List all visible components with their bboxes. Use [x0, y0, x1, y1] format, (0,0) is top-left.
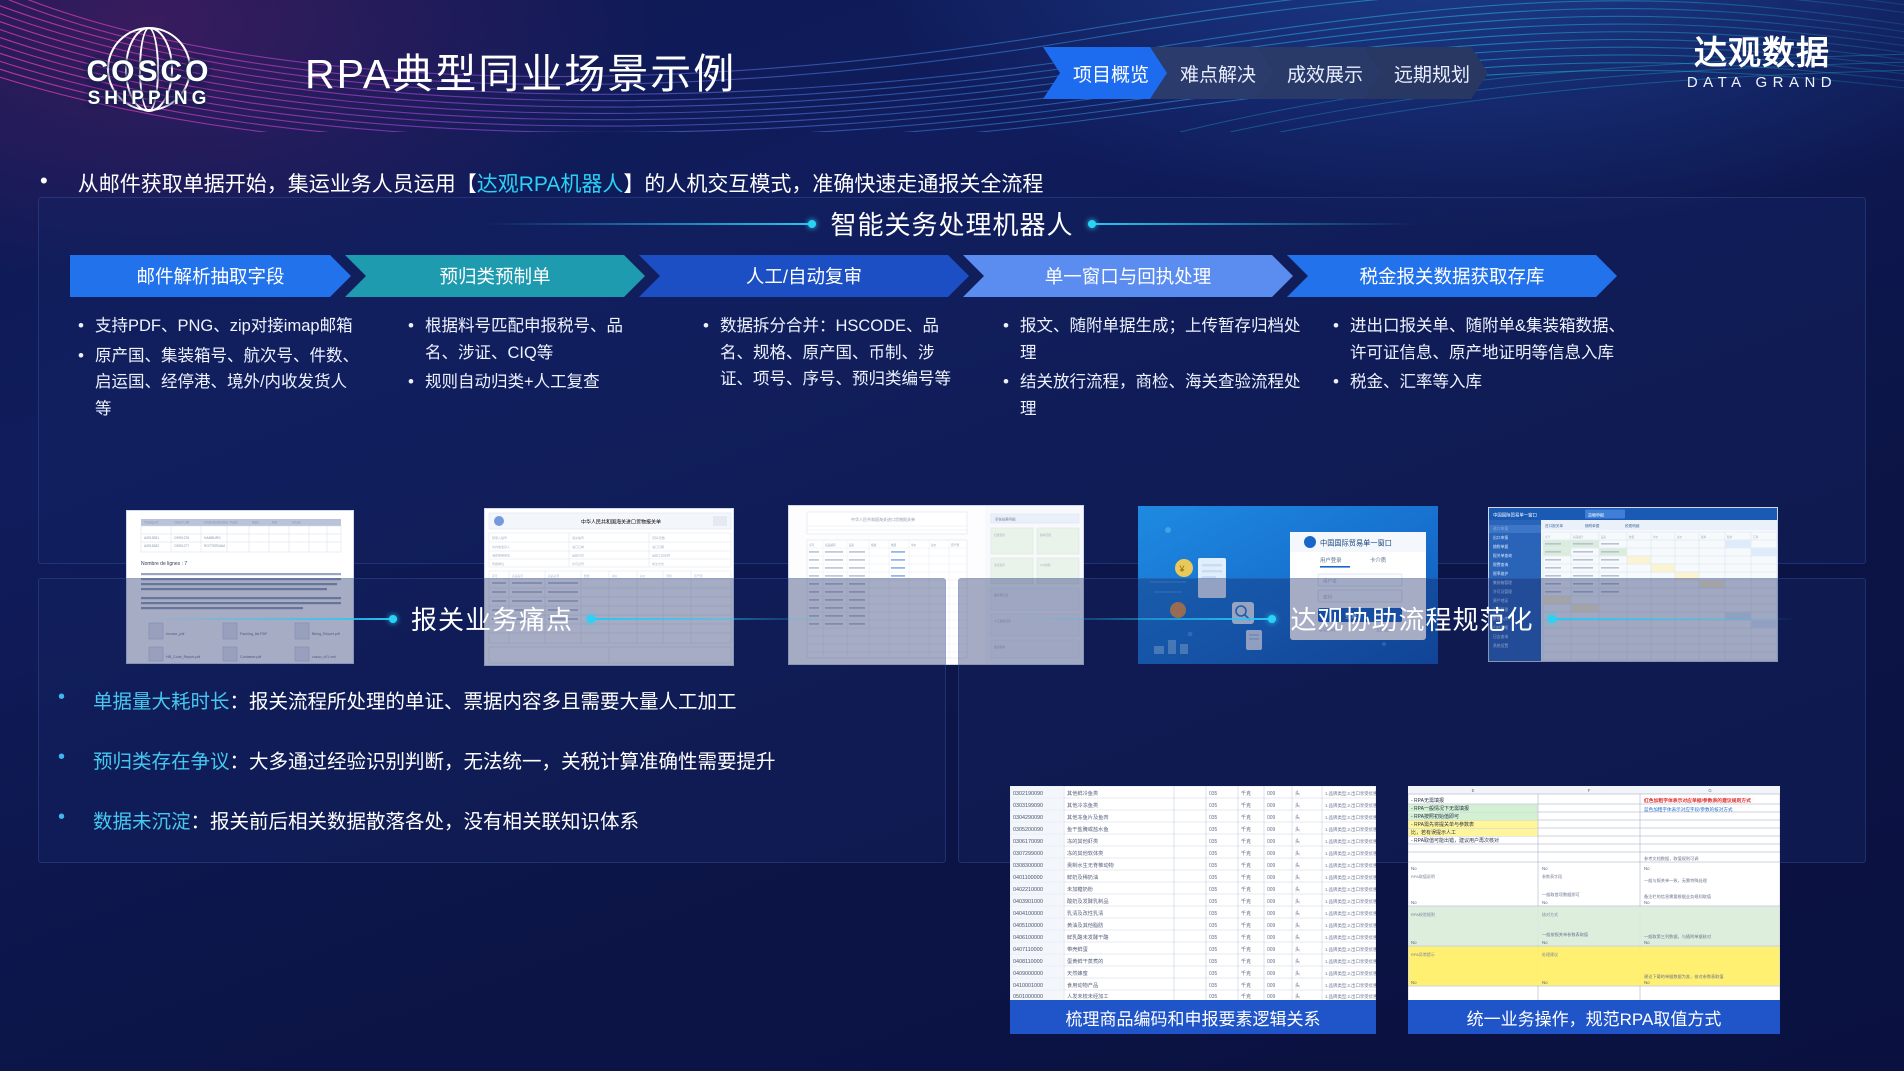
svg-text:天然蜂蜜: 天然蜂蜜: [1067, 969, 1088, 977]
intro-text-highlight: 达观RPA机器人: [477, 173, 624, 196]
svg-text:0402210000: 0402210000: [1013, 887, 1043, 893]
svg-text:HAMBURG: HAMBURG: [204, 536, 221, 540]
svg-text:税金: 税金: [1727, 535, 1733, 539]
svg-text:- RPA需先将提关单与参数表: - RPA需先将提关单与参数表: [1411, 821, 1474, 828]
svg-text:009: 009: [1267, 947, 1276, 953]
svg-text:消费使用单位: 消费使用单位: [492, 553, 510, 558]
svg-text:千克: 千克: [1241, 850, 1251, 857]
svg-text:头: 头: [1295, 970, 1300, 977]
svg-text:商品编号: 商品编号: [1573, 535, 1584, 539]
bullet-marker: •: [703, 313, 709, 339]
svg-text:No: No: [1542, 940, 1548, 945]
svg-text:1.品牌类型;2.出口享受优惠政策: 1.品牌类型;2.出口享受优惠政策: [1325, 946, 1376, 953]
svg-text:税率维护: 税率维护: [1493, 571, 1508, 576]
svg-text:中华人民共和国海关进口货物报关单: 中华人民共和国海关进口货物报关单: [851, 516, 915, 522]
svg-text:1.品牌类型;2.出口享受优惠政策: 1.品牌类型;2.出口享受优惠政策: [1325, 993, 1376, 1000]
step-chevron-2[interactable]: 预归类预制单: [345, 255, 645, 297]
step-4-bullet-1: 报文、随附单据生成；上传暂存归档处理: [1020, 313, 1308, 366]
svg-text:头: 头: [1295, 790, 1300, 797]
svg-text:比，若有误提示人工: 比，若有误提示人工: [1411, 829, 1456, 836]
step-chevron-1[interactable]: 邮件解析抽取字段: [70, 255, 351, 297]
svg-text:1.品牌类型;2.出口享受优惠政策: 1.品牌类型;2.出口享受优惠政策: [1325, 826, 1376, 833]
svg-text:0408110000: 0408110000: [1013, 959, 1043, 965]
svg-text:009: 009: [1267, 983, 1276, 989]
svg-text:随附单据: 随附单据: [1493, 544, 1508, 549]
intro-text: 从邮件获取单据开始，集运业务人员运用【达观RPA机器人】的人机交互模式，准确快速…: [78, 168, 1044, 198]
svg-text:A0915281: A0915281: [144, 536, 159, 540]
svg-text:熏制水生无脊椎动物: 熏制水生无脊椎动物: [1067, 861, 1114, 869]
cosco-logo-line1: COSCO: [56, 57, 242, 87]
heading-knob-left: [389, 615, 397, 623]
svg-text:其他冻鱼片及鱼肉: 其他冻鱼片及鱼肉: [1067, 813, 1109, 821]
svg-text:头: 头: [1295, 946, 1300, 953]
bullet-marker: •: [58, 685, 65, 709]
svg-text:千克: 千克: [1241, 886, 1251, 893]
svg-text:035: 035: [1209, 887, 1218, 893]
svg-text:原产国: 原产国: [951, 543, 959, 547]
svg-text:035: 035: [1209, 851, 1218, 857]
pain-point-1-sep: ：: [230, 691, 250, 713]
svg-text:税费查询: 税费查询: [1493, 562, 1508, 567]
svg-text:1.品牌类型;2.出口享受优惠政策: 1.品牌类型;2.出口享受优惠政策: [1325, 970, 1376, 977]
svg-text:No: No: [1644, 980, 1650, 985]
svg-text:头: 头: [1295, 814, 1300, 821]
svg-text:食用动物产品: 食用动物产品: [1067, 981, 1098, 989]
svg-text:Rate: Rate: [252, 521, 259, 525]
heading-knob-right: [1548, 615, 1556, 623]
svg-text:0404100000: 0404100000: [1013, 911, 1043, 917]
svg-text:头: 头: [1295, 874, 1300, 881]
svg-text:涉证提示: 涉证提示: [994, 563, 1005, 567]
svg-text:序号: 序号: [809, 543, 815, 547]
svg-text:0305200090: 0305200090: [1013, 827, 1043, 833]
svg-text:运输方式: 运输方式: [572, 553, 584, 558]
svg-text:0405100000: 0405100000: [1013, 923, 1043, 929]
svg-text:核对方式: 核对方式: [1542, 911, 1558, 917]
svg-text:035: 035: [1209, 935, 1218, 941]
svg-text:千克: 千克: [1241, 982, 1251, 989]
svg-text:E: E: [1472, 788, 1475, 793]
list-item: •结关放行流程，商检、海关查验流程处理: [1003, 369, 1333, 422]
svg-text:运输工具名称: 运输工具名称: [652, 553, 670, 558]
step-5-bullet-1: 进出口报关单、随附单&集装箱数据、许可证信息、原产地证明等信息入库: [1350, 313, 1626, 366]
pain-points-heading: 报关业务痛点: [38, 600, 946, 637]
step-2-bullet-2: 规则自动归类+人工复查: [425, 369, 600, 396]
svg-text:035: 035: [1209, 803, 1218, 809]
svg-text:一般与报关单一致，无需特殊处理: 一般与报关单一致，无需特殊处理: [1644, 877, 1708, 884]
svg-text:Child destination: Child destination: [204, 521, 229, 525]
svg-text:ROTTERDAM: ROTTERDAM: [204, 544, 225, 548]
svg-text:进口报关单: 进口报关单: [1545, 523, 1563, 528]
list-item: • 数据未沉淀：报关前后相关数据散落各处，没有相关联知识体系: [58, 805, 938, 834]
svg-text:数量: 数量: [891, 543, 897, 547]
svg-text:蛋黄鲜干蒸煮的: 蛋黄鲜干蒸煮的: [1067, 957, 1103, 965]
heading-rule-left: [1026, 618, 1276, 620]
pain-point-2-sep: ：: [230, 751, 250, 773]
svg-text:009: 009: [1267, 935, 1276, 941]
list-item: •报文、随附单据生成；上传暂存归档处理: [1003, 313, 1333, 366]
svg-text:冻的其他软体类: 冻的其他软体类: [1067, 849, 1103, 857]
caption-commodity-code-sheet: 梳理商品编码和申报要素逻辑关系: [1010, 1000, 1376, 1034]
svg-text:No: No: [1542, 900, 1548, 905]
svg-text:009: 009: [1267, 815, 1276, 821]
svg-text:税费明细: 税费明细: [1625, 523, 1640, 528]
svg-text:头: 头: [1295, 850, 1300, 857]
bullet-marker: •: [408, 313, 414, 339]
svg-text:1.品牌类型;2.出口享受优惠政策: 1.品牌类型;2.出口享受优惠政策: [1325, 814, 1376, 821]
step-1-bullet-1: 支持PDF、PNG、zip对接imap邮箱: [95, 313, 353, 340]
svg-text:009: 009: [1267, 971, 1276, 977]
tab-difficulty-resolution[interactable]: 难点解决: [1150, 47, 1274, 99]
svg-text:总价: 总价: [931, 543, 937, 547]
datagrand-logo: 达观数据 DATA GRAND: [1662, 36, 1862, 91]
svg-text:No: No: [1542, 980, 1548, 985]
heading-rule-left: [486, 223, 816, 225]
svg-text:1.品牌类型;2.出口享受优惠政策: 1.品牌类型;2.出口享受优惠政策: [1325, 838, 1376, 845]
svg-text:头: 头: [1295, 982, 1300, 989]
svg-text:申报单位: 申报单位: [492, 561, 504, 566]
svg-text:商品编码: 商品编码: [825, 543, 836, 547]
svg-text:千克: 千克: [1241, 790, 1251, 797]
thumbnail-commodity-code-sheet-graphic: 030219009003031990900304290090 030520009…: [1010, 786, 1376, 1000]
svg-text:随附单据: 随附单据: [1585, 523, 1600, 528]
svg-text:中华人民共和国海关进口货物报关单: 中华人民共和国海关进口货物报关单: [581, 519, 661, 526]
svg-text:黄油及其他脂肪: 黄油及其他脂肪: [1067, 921, 1103, 929]
svg-text:0308300000: 0308300000: [1013, 863, 1043, 869]
step-5-bullet-2: 税金、汇率等入库: [1350, 369, 1482, 396]
pain-point-3-text: 报关前后相关数据散落各处，没有相关联知识体系: [210, 811, 639, 833]
svg-text:千克: 千克: [1241, 874, 1251, 881]
svg-text:0302190090: 0302190090: [1013, 791, 1043, 797]
svg-text:处理建议: 处理建议: [1542, 951, 1558, 957]
svg-text:F: F: [1588, 788, 1591, 793]
svg-text:Net: Net: [272, 521, 277, 525]
svg-text:报关单查询: 报关单查询: [1493, 553, 1512, 558]
svg-text:No: No: [1411, 980, 1417, 985]
step-chevron-3[interactable]: 人工/自动复审: [639, 255, 969, 297]
svg-text:C9991276: C9991276: [174, 536, 189, 540]
svg-text:千克: 千克: [1241, 958, 1251, 965]
svg-text:头: 头: [1295, 826, 1300, 833]
svg-text:A0915282: A0915282: [144, 544, 159, 548]
step-5-bullet-list: •进出口报关单、随附单&集装箱数据、许可证信息、原产地证明等信息入库 •税金、汇…: [1333, 313, 1663, 396]
svg-text:其他冷冻鱼类: 其他冷冻鱼类: [1067, 801, 1098, 809]
svg-text:035: 035: [1209, 923, 1218, 929]
list-item: •进出口报关单、随附单&集装箱数据、许可证信息、原产地证明等信息入库: [1333, 313, 1663, 366]
svg-text:009: 009: [1267, 923, 1276, 929]
svg-text:海关编号: 海关编号: [572, 535, 584, 540]
heading-knob-left: [1268, 615, 1276, 623]
svg-text:千克: 千克: [1241, 970, 1251, 977]
intro-text-part1: 从邮件获取单据开始，集运业务人员运用【: [78, 173, 477, 196]
svg-text:进口口岸: 进口口岸: [572, 544, 584, 549]
svg-text:参考文档数据，取值规则可调: 参考文档数据，取值规则可调: [1644, 855, 1698, 862]
svg-text:009: 009: [1267, 875, 1276, 881]
svg-text:035: 035: [1209, 875, 1218, 881]
step-3-bullet-list: •数据拆分合并：HSCODE、品名、规格、原产国、币制、涉证、项号、序号、预归类…: [703, 313, 1003, 393]
process-standardization-heading: 达观协助流程规范化: [958, 600, 1866, 637]
list-item: • 单据量大耗时长：报关流程所处理的单证、票据内容多且需要大量人工加工: [58, 685, 938, 714]
svg-text:头: 头: [1295, 934, 1300, 941]
list-item: •根据料号匹配申报税号、品名、涉证、CIQ等: [408, 313, 703, 366]
svg-text:009: 009: [1267, 887, 1276, 893]
svg-text:1.品牌类型;2.出口享受优惠政策: 1.品牌类型;2.出口享受优惠政策: [1325, 982, 1376, 989]
bullet-marker: •: [1003, 313, 1009, 339]
svg-text:千克: 千克: [1241, 898, 1251, 905]
step-2-bullet-list: •根据料号匹配申报税号、品名、涉证、CIQ等 •规则自动归类+人工复查: [408, 313, 703, 396]
svg-text:未加糖奶粉: 未加糖奶粉: [1067, 885, 1094, 893]
step-1-bullet-list: •支持PDF、PNG、zip对接imap邮箱 •原产国、集装箱号、航次号、件数、…: [78, 313, 408, 423]
step-4-bullet-list: •报文、随附单据生成；上传暂存归档处理 •结关放行流程，商检、海关查验流程处理: [1003, 313, 1333, 423]
svg-text:RPA异常提示: RPA异常提示: [1411, 951, 1435, 957]
datagrand-logo-en: DATA GRAND: [1662, 74, 1862, 91]
bullet-marker: •: [40, 168, 48, 194]
pain-point-1: 单据量大耗时长：报关流程所处理的单证、票据内容多且需要大量人工加工: [93, 685, 737, 714]
list-item: •原产国、集装箱号、航次号、件数、启运国、经停港、境外/内收发货人等: [78, 343, 408, 423]
svg-text:009: 009: [1267, 851, 1276, 857]
svg-text:序号: 序号: [1545, 535, 1551, 539]
svg-text:No: No: [1644, 900, 1650, 905]
main-section-heading: 智能关务处理机器人: [38, 205, 1866, 242]
svg-text:千克: 千克: [1241, 910, 1251, 917]
pain-point-3-sep: ：: [191, 811, 211, 833]
svg-text:境内收发货人: 境内收发货人: [492, 544, 510, 549]
pain-point-1-text: 报关流程所处理的单证、票据内容多且需要大量人工加工: [249, 691, 737, 713]
svg-text:No: No: [1542, 866, 1548, 871]
step-2-bullet-1: 根据料号匹配申报税号、品名、涉证、CIQ等: [425, 313, 653, 366]
svg-text:G: G: [1708, 788, 1711, 793]
svg-text:头: 头: [1295, 910, 1300, 917]
svg-text:Gross: Gross: [292, 521, 301, 525]
svg-text:备注栏的信息需要根据业务规则取值: 备注栏的信息需要根据业务规则取值: [1644, 893, 1711, 900]
section-nav-tabs[interactable]: 项目概览 难点解决 成效展示 远期规划: [1060, 47, 1488, 99]
svg-text:035: 035: [1209, 911, 1218, 917]
svg-text:鱼干盐腌或盐水鱼: 鱼干盐腌或盐水鱼: [1067, 825, 1109, 833]
svg-text:蓝色加粗字体表示对应字段/参数的核对方式: 蓝色加粗字体表示对应字段/参数的核对方式: [1644, 806, 1733, 813]
svg-text:035: 035: [1209, 899, 1218, 905]
heading-knob-right: [1088, 220, 1096, 228]
svg-text:人发未梳未经加工: 人发未梳未经加工: [1067, 992, 1109, 1000]
svg-text:出口申报: 出口申报: [1493, 535, 1508, 540]
svg-text:009: 009: [1267, 899, 1276, 905]
svg-text:CIQ校验: CIQ校验: [1040, 563, 1051, 567]
svg-text:009: 009: [1267, 827, 1276, 833]
pain-point-2: 预归类存在争议：大多通过经验识别判断，无法统一，关税计算准确性需要提升: [93, 745, 776, 774]
slide-header: COSCO SHIPPING RPA典型同业场景示例 项目概览 难点解决 成效展…: [0, 0, 1904, 132]
svg-text:1.品牌类型;2.出口享受优惠政策: 1.品牌类型;2.出口享受优惠政策: [1325, 850, 1376, 857]
svg-text:鲜奶及稀奶油: 鲜奶及稀奶油: [1067, 873, 1098, 881]
svg-text:1.品牌类型;2.出口享受优惠政策: 1.品牌类型;2.出口享受优惠政策: [1325, 862, 1376, 869]
step-3-bullet-1: 数据拆分合并：HSCODE、品名、规格、原产国、币制、涉证、项号、序号、预归类编…: [720, 313, 966, 393]
svg-text:009: 009: [1267, 803, 1276, 809]
svg-text:No: No: [1644, 866, 1650, 871]
pain-point-2-lead: 预归类存在争议: [93, 751, 230, 773]
svg-text:卡介质: 卡介质: [1370, 556, 1387, 564]
svg-text:页码/页数: 页码/页数: [652, 535, 665, 540]
svg-text:009: 009: [1267, 911, 1276, 917]
svg-text:参数表字段: 参数表字段: [1542, 873, 1562, 879]
svg-text:035: 035: [1209, 947, 1218, 953]
svg-text:035: 035: [1209, 971, 1218, 977]
svg-text:头: 头: [1295, 838, 1300, 845]
bullet-marker: •: [58, 805, 65, 829]
svg-text:品名: 品名: [1601, 535, 1607, 539]
svg-text:0304290090: 0304290090: [1013, 815, 1043, 821]
svg-text:数量: 数量: [1629, 535, 1635, 539]
svg-text:建议下载的单据数据为准，核对参数表取值: 建议下载的单据数据为准，核对参数表取值: [1644, 973, 1724, 980]
svg-text:成交方式: 成交方式: [652, 561, 664, 566]
svg-text:009: 009: [1267, 863, 1276, 869]
pain-point-1-lead: 单据量大耗时长: [93, 691, 230, 713]
svg-text:一般按报关单参数表取值: 一般按报关单参数表取值: [1542, 931, 1588, 938]
svg-text:- RPA一般情况下无需填报: - RPA一般情况下无需填报: [1411, 805, 1469, 812]
bullet-marker: •: [78, 313, 84, 339]
svg-text:头: 头: [1295, 862, 1300, 869]
heading-knob-right: [587, 615, 595, 623]
svg-text:1.品牌类型;2.出口享受优惠政策: 1.品牌类型;2.出口享受优惠政策: [1325, 886, 1376, 893]
intro-text-part2: 】的人机交互模式，准确快速走通报关全流程: [623, 173, 1043, 196]
svg-text:头: 头: [1295, 898, 1300, 905]
svg-text:0410001000: 0410001000: [1013, 983, 1043, 989]
svg-text:1.品牌类型;2.出口享受优惠政策: 1.品牌类型;2.出口享受优惠政策: [1325, 874, 1376, 881]
svg-text:035: 035: [1209, 983, 1218, 989]
svg-text:税率: 税率: [1701, 535, 1707, 539]
svg-text:归类建议: 归类建议: [994, 533, 1005, 537]
svg-text:C9991277: C9991277: [174, 544, 189, 548]
svg-text:1.品牌类型;2.出口享受优惠政策: 1.品牌类型;2.出口享受优惠政策: [1325, 790, 1376, 797]
svg-text:规格: 规格: [871, 543, 877, 547]
svg-text:酸奶及发酵乳制品: 酸奶及发酵乳制品: [1067, 897, 1109, 905]
process-standardization-heading-text: 达观协助流程规范化: [1290, 600, 1533, 637]
list-item: •数据拆分合并：HSCODE、品名、规格、原产国、币制、涉证、项号、序号、预归类…: [703, 313, 1003, 393]
svg-text:035: 035: [1209, 815, 1218, 821]
svg-text:035: 035: [1209, 863, 1218, 869]
tab-project-overview[interactable]: 项目概览: [1043, 47, 1167, 99]
svg-text:- RPA取值可能出错，建议用户再次核对: - RPA取值可能出错，建议用户再次核对: [1411, 837, 1499, 844]
svg-text:Nombre de lignes : 7: Nombre de lignes : 7: [141, 561, 187, 567]
svg-text:单价: 单价: [1653, 535, 1659, 539]
svg-text:Pack: Pack: [230, 521, 238, 525]
datagrand-logo-cn: 达观数据: [1662, 36, 1862, 71]
svg-text:单价: 单价: [911, 543, 917, 547]
svg-text:鲜乳酪未发酵干酪: 鲜乳酪未发酵干酪: [1067, 933, 1109, 941]
svg-text:035: 035: [1209, 791, 1218, 797]
svg-text:汇率: 汇率: [1753, 535, 1759, 539]
thumbnail-rpa-rules-sheet[interactable]: EFG - RPA无需填报 - RPA一般情况下无需填报 - RPA按照初始值即…: [1408, 786, 1780, 1000]
svg-text:头: 头: [1295, 922, 1300, 929]
heading-knob-left: [808, 220, 816, 228]
step-chevron-4[interactable]: 单一窗口与回执处理: [963, 255, 1293, 297]
svg-text:0303199090: 0303199090: [1013, 803, 1043, 809]
step-chevron-5[interactable]: 税金报关数据获取存库: [1287, 255, 1617, 297]
svg-text:009: 009: [1267, 839, 1276, 845]
svg-text:税率匹配: 税率匹配: [1040, 533, 1051, 537]
bullet-marker: •: [78, 343, 84, 369]
pain-points-list: • 单据量大耗时长：报关流程所处理的单证、票据内容多且需要大量人工加工 • 预归…: [58, 685, 938, 865]
svg-text:品名: 品名: [849, 543, 855, 547]
svg-text:No: No: [1644, 940, 1650, 945]
heading-rule-left: [147, 618, 397, 620]
svg-text:千克: 千克: [1241, 838, 1251, 845]
svg-text:红色加粗字体表示对应单据/参数表的建议规则方式: 红色加粗字体表示对应单据/参数表的建议规则方式: [1644, 797, 1751, 804]
svg-text:其他鲜冷鱼类: 其他鲜冷鱼类: [1067, 789, 1098, 797]
bullet-marker: •: [408, 369, 414, 395]
thumbnail-commodity-code-sheet[interactable]: 030219009003031990900304290090 030520009…: [1010, 786, 1376, 1000]
intro-bullet-line: • 从邮件获取单据开始，集运业务人员运用【达观RPA机器人】的人机交互模式，准确…: [40, 168, 1740, 198]
heading-rule-right: [1548, 618, 1798, 620]
svg-text:Transport: Transport: [144, 521, 158, 525]
svg-text:0307299000: 0307299000: [1013, 851, 1043, 857]
svg-text:1.品牌类型;2.出口享受优惠政策: 1.品牌类型;2.出口享受优惠政策: [1325, 910, 1376, 917]
svg-text:1.品牌类型;2.出口享受优惠政策: 1.品牌类型;2.出口享受优惠政策: [1325, 922, 1376, 929]
bullet-marker: •: [1333, 369, 1339, 395]
svg-text:009: 009: [1267, 791, 1276, 797]
svg-text:千克: 千克: [1241, 922, 1251, 929]
svg-text:用户登录: 用户登录: [1320, 556, 1342, 564]
pain-point-3: 数据未沉淀：报关前后相关数据散落各处，没有相关联知识体系: [93, 805, 639, 834]
svg-text:0406100000: 0406100000: [1013, 935, 1043, 941]
slide-root: COSCO SHIPPING RPA典型同业场景示例 项目概览 难点解决 成效展…: [0, 0, 1904, 1071]
list-item: •规则自动归类+人工复查: [408, 369, 703, 396]
svg-text:No: No: [1411, 866, 1417, 871]
svg-text:0401100000: 0401100000: [1013, 875, 1043, 881]
svg-text:千克: 千克: [1241, 826, 1251, 833]
tab-results-display[interactable]: 成效展示: [1257, 47, 1381, 99]
svg-text:总价: 总价: [1677, 535, 1683, 539]
cosco-shipping-logo: COSCO SHIPPING: [56, 27, 242, 111]
main-heading-text: 智能关务处理机器人: [830, 205, 1073, 242]
caption-rpa-rules-sheet: 统一业务操作，规范RPA取值方式: [1408, 1000, 1780, 1034]
svg-text:头: 头: [1295, 958, 1300, 965]
svg-text:1.品牌类型;2.出口享受优惠政策: 1.品牌类型;2.出口享受优惠政策: [1325, 898, 1376, 905]
step-4-bullet-2: 结关放行流程，商检、海关查验流程处理: [1020, 369, 1308, 422]
bullet-marker: •: [58, 745, 65, 769]
svg-text:RPA取值说明: RPA取值说明: [1411, 873, 1435, 879]
list-item: •支持PDF、PNG、zip对接imap邮箱: [78, 313, 408, 340]
svg-text:No: No: [1411, 940, 1417, 945]
svg-text:035: 035: [1209, 959, 1218, 965]
svg-text:千克: 千克: [1241, 862, 1251, 869]
svg-text:中国国际贸易单一窗口: 中国国际贸易单一窗口: [1320, 539, 1392, 548]
svg-text:进口日期: 进口日期: [652, 544, 664, 549]
cosco-logo-line2: SHIPPING: [56, 89, 242, 108]
svg-text:035: 035: [1209, 827, 1218, 833]
bullet-marker: •: [1003, 369, 1009, 395]
svg-text:009: 009: [1267, 959, 1276, 965]
svg-text:千克: 千克: [1241, 814, 1251, 821]
svg-text:中国国际贸易单一窗口: 中国国际贸易单一窗口: [1493, 512, 1537, 519]
svg-text:千克: 千克: [1241, 934, 1251, 941]
svg-text:冻的其他虾类: 冻的其他虾类: [1067, 837, 1098, 845]
page-title: RPA典型同业场景示例: [305, 40, 736, 100]
svg-text:0306170090: 0306170090: [1013, 839, 1043, 845]
thumbnail-rpa-rules-sheet-graphic: EFG - RPA无需填报 - RPA一般情况下无需填报 - RPA按照初始值即…: [1408, 786, 1780, 1000]
pain-point-3-lead: 数据未沉淀: [93, 811, 191, 833]
svg-text:¥: ¥: [1179, 564, 1186, 574]
tab-long-term-plan[interactable]: 远期规划: [1364, 47, 1488, 99]
svg-text:头: 头: [1295, 802, 1300, 809]
svg-text:1.品牌类型;2.出口享受优惠政策: 1.品牌类型;2.出口享受优惠政策: [1325, 802, 1376, 809]
svg-text:RPA校验规则: RPA校验规则: [1411, 911, 1435, 917]
svg-text:1.品牌类型;2.出口享受优惠政策: 1.品牌类型;2.出口享受优惠政策: [1325, 934, 1376, 941]
svg-text:头: 头: [1295, 886, 1300, 893]
svg-text:- RPA按照初始值即可: - RPA按照初始值即可: [1411, 813, 1459, 820]
pain-point-2-text: 大多通过经验识别判断，无法统一，关税计算准确性需要提升: [249, 751, 776, 773]
svg-text:一般取第三列数据，与随附单据核对: 一般取第三列数据，与随附单据核对: [1644, 933, 1711, 940]
svg-text:头: 头: [1295, 993, 1300, 1000]
list-item: •税金、汇率等入库: [1333, 369, 1663, 396]
svg-text:审核结果明细: 审核结果明细: [995, 517, 1016, 522]
